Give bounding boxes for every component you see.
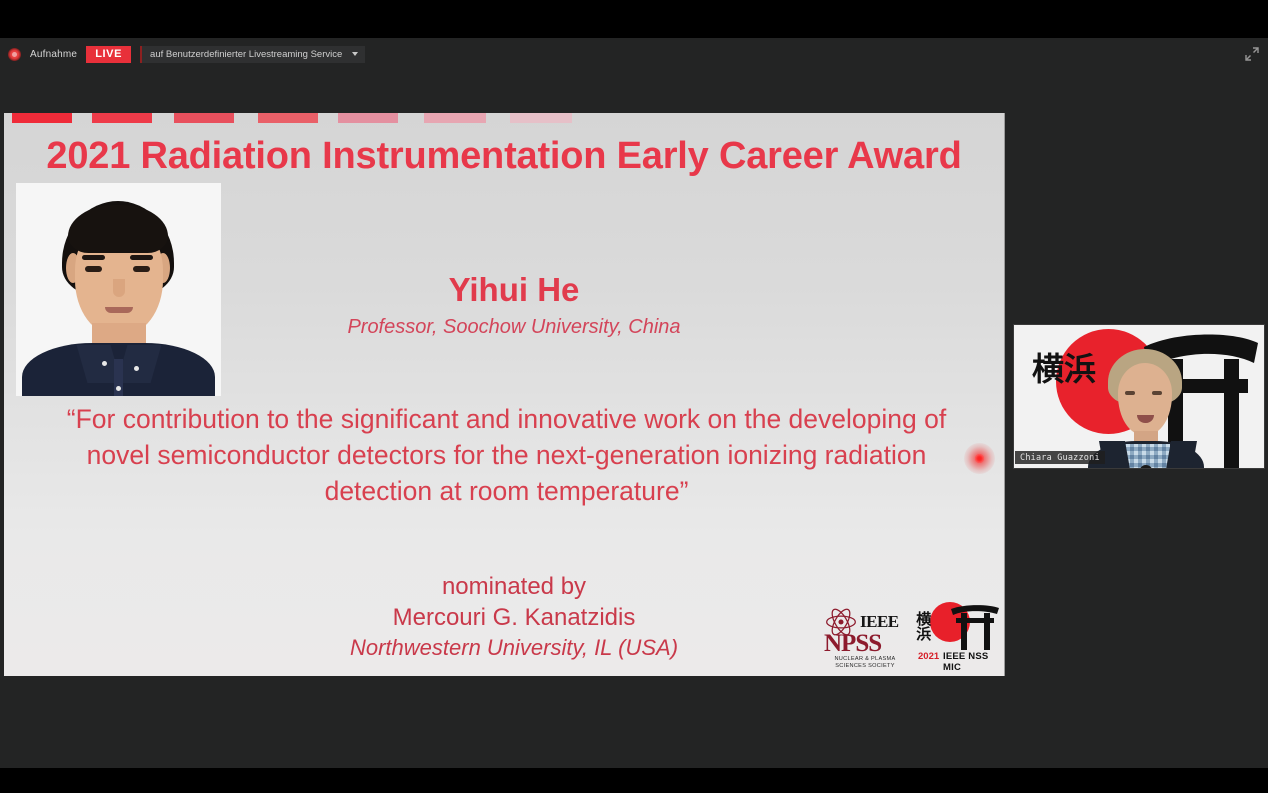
yokohama-kanji: 横浜 [916,611,930,641]
awardee-portrait-photo [16,183,221,396]
ieee-wordmark: IEEE [860,612,899,632]
npss-subtitle-line1: NUCLEAR & PLASMA [825,656,905,662]
accent-bar-2 [92,113,152,123]
slide-title: 2021 Radiation Instrumentation Early Car… [4,135,1004,178]
accent-bar-6 [424,113,486,123]
yokohama-kanji-background: 横浜 [1032,353,1096,385]
slide-accent-bars [4,113,1004,123]
nominator-name: Mercouri G. Kanatzidis [224,602,804,633]
nominated-by-label: nominated by [224,571,804,602]
participant-video-tile[interactable]: 横浜 Chiara Guazzoni [1013,324,1265,469]
live-badge[interactable]: LIVE [86,46,131,63]
record-dot-icon[interactable] [8,48,21,61]
letterbox-top [0,0,1268,38]
participant-figure [1092,349,1200,469]
nss-mic-event: IEEE NSS MIC [943,651,1002,673]
nominator-affiliation: Northwestern University, IL (USA) [224,633,804,663]
chevron-down-icon[interactable] [352,52,358,56]
accent-bar-7 [510,113,572,123]
collapse-arrows-icon[interactable] [1244,46,1260,62]
torii-gate-icon [950,603,1000,651]
awardee-affiliation: Professor, Soochow University, China [224,316,804,339]
accent-bar-3 [174,113,234,123]
awardee-name: Yihui He [224,271,804,309]
npss-subtitle-line2: SCIENCES SOCIETY [825,663,905,669]
recording-label: Aufnahme [30,49,77,60]
recording-toolbar: Aufnahme LIVE auf Benutzerdefinierter Li… [0,42,365,66]
accent-bar-4 [258,113,318,123]
laser-pointer-dot-icon [964,443,995,474]
ieee-npss-logo: IEEE NPSS NUCLEAR & PLASMA SCIENCES SOCI… [822,602,906,670]
streaming-service-label: auf Benutzerdefinierter Livestreaming Se… [150,49,342,60]
slide-canvas: 2021 Radiation Instrumentation Early Car… [4,113,1005,676]
conference-stream-window: Aufnahme LIVE auf Benutzerdefinierter Li… [0,0,1268,793]
npss-wordmark: NPSS [824,630,881,658]
accent-bar-5 [338,113,398,123]
nss-mic-2021-logo: 横浜 2021 IEEE NSS MIC [914,601,1002,671]
streaming-service-selector[interactable]: auf Benutzerdefinierter Livestreaming Se… [140,46,365,63]
accent-bar-1 [12,113,72,123]
nomination-block: nominated by Mercouri G. Kanatzidis Nort… [224,571,804,663]
nss-mic-year: 2021 [918,651,939,662]
slide-logos: IEEE NPSS NUCLEAR & PLASMA SCIENCES SOCI… [822,600,1002,672]
award-citation: “For contribution to the significant and… [54,401,959,509]
letterbox-bottom [0,768,1268,793]
participant-name-label: Chiara Guazzoni [1015,451,1105,464]
